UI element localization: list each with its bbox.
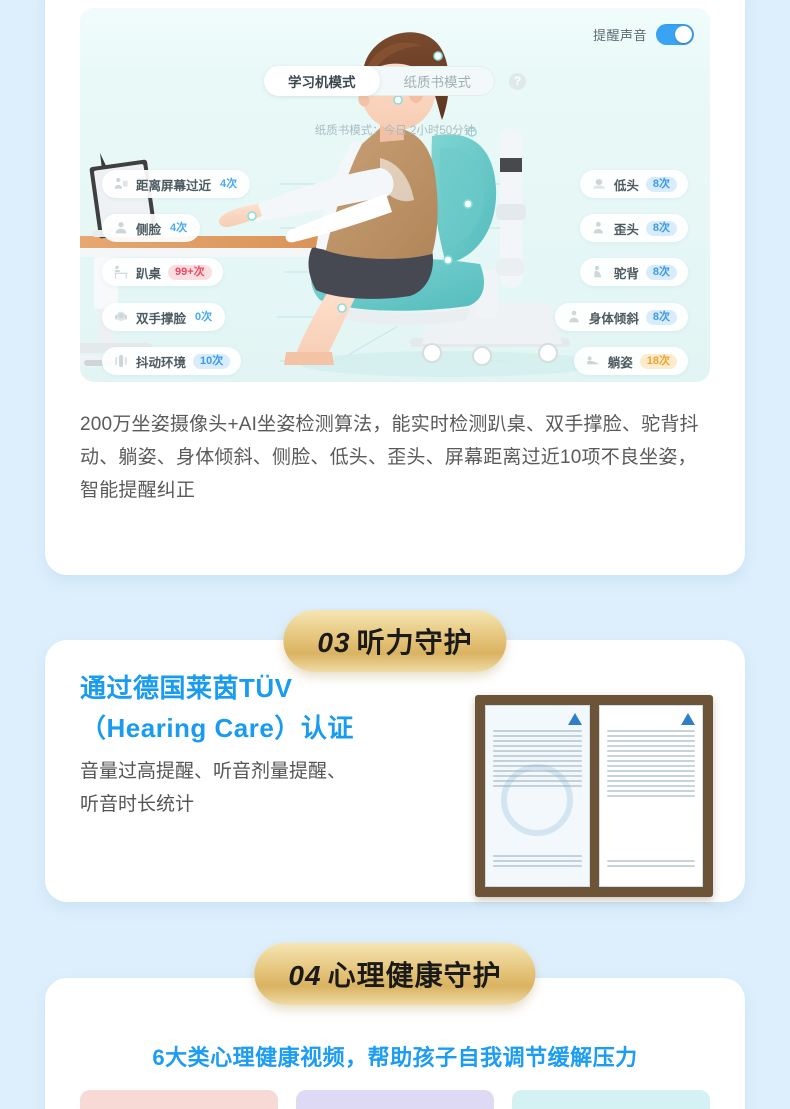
- badge-head-down[interactable]: 低头 8次: [580, 170, 688, 198]
- badge-lying-posture[interactable]: 躺姿 18次: [574, 347, 688, 375]
- desk-lean-icon: [113, 264, 129, 280]
- lying-icon: [585, 353, 601, 369]
- section-03-heading: 03听力守护: [317, 621, 472, 661]
- mode-tab-group[interactable]: 学习机模式 纸质书模式 ?: [264, 66, 526, 96]
- badge-count: 18次: [640, 354, 677, 369]
- posture-illustration-panel: 提醒声音 学习机模式 纸质书模式 ? 纸质书模式：今日 2小时50分钟: [80, 8, 710, 382]
- section-04-chip: 04心理健康守护: [254, 943, 535, 1005]
- video-thumb-3[interactable]: [512, 1090, 710, 1109]
- video-thumb-1[interactable]: [80, 1090, 278, 1109]
- page-root: 提醒声音 学习机模式 纸质书模式 ? 纸质书模式：今日 2小时50分钟: [0, 0, 790, 1109]
- sound-reminder-toggle-row[interactable]: 提醒声音: [593, 24, 694, 45]
- person-screen-icon: [113, 176, 129, 192]
- letter-footer-lines: [607, 860, 696, 870]
- tab-learning-machine-mode[interactable]: 学习机模式: [264, 66, 380, 96]
- badge-label: 歪头: [614, 219, 639, 238]
- video-thumbnail-row: [80, 1090, 710, 1109]
- hunchback-icon: [591, 264, 607, 280]
- badge-count: 0次: [193, 310, 214, 325]
- badge-count: 8次: [646, 310, 677, 325]
- head-down-icon: [591, 176, 607, 192]
- badge-distance-too-close[interactable]: 距离屏幕过近 4次: [102, 170, 250, 198]
- badge-label: 侧脸: [136, 219, 161, 238]
- tuv-logo-icon: [568, 713, 582, 725]
- section-03-number: 03: [317, 627, 350, 658]
- sound-reminder-label: 提醒声音: [593, 25, 647, 44]
- badge-body-tilt[interactable]: 身体倾斜 8次: [555, 303, 688, 331]
- section-03-title: 听力守护: [357, 627, 473, 658]
- badge-count: 4次: [168, 221, 189, 236]
- badge-count: 8次: [646, 221, 677, 236]
- video-thumb-2[interactable]: [296, 1090, 494, 1109]
- mode-segmented-control[interactable]: 学习机模式 纸质书模式: [264, 66, 495, 96]
- badge-shaking-environment[interactable]: 抖动环境 10次: [102, 347, 241, 375]
- hearing-subtext: 音量过高提醒、听音剂量提醒、 听音时长统计: [80, 755, 460, 821]
- hearing-card: 通过德国莱茵TÜV （Hearing Care）认证 音量过高提醒、听音剂量提醒…: [45, 640, 745, 902]
- badge-count: 10次: [193, 354, 230, 369]
- help-icon[interactable]: ?: [509, 73, 526, 90]
- sound-reminder-switch[interactable]: [656, 24, 694, 45]
- badge-label: 抖动环境: [136, 352, 186, 371]
- certificate-footer-lines: [493, 855, 582, 870]
- hearing-heading-line2: （Hearing Care）认证: [80, 708, 460, 748]
- badge-label: 双手撑脸: [136, 308, 186, 327]
- badge-label: 躺姿: [608, 352, 633, 371]
- hearing-heading-line1: 通过德国莱茵TÜV: [80, 668, 460, 708]
- mental-health-headline: 6大类心理健康视频，帮助孩子自我调节缓解压力: [45, 1040, 745, 1072]
- badge-head-tilt[interactable]: 歪头 8次: [580, 214, 688, 242]
- section-04-heading: 04心理健康守护: [288, 954, 501, 994]
- hands-face-icon: [113, 309, 129, 325]
- badge-count: 8次: [646, 265, 677, 280]
- badge-count: 99+次: [168, 265, 212, 280]
- badge-hands-on-face[interactable]: 双手撑脸 0次: [102, 303, 225, 331]
- badge-label: 低头: [614, 175, 639, 194]
- certificate-document-right: [599, 705, 704, 887]
- hearing-subtext-line2: 听音时长统计: [80, 788, 460, 821]
- badge-label: 身体倾斜: [589, 308, 639, 327]
- body-tilt-icon: [566, 309, 582, 325]
- badge-label: 趴桌: [136, 263, 161, 282]
- hearing-heading: 通过德国莱茵TÜV （Hearing Care）认证: [80, 668, 460, 748]
- paper-mode-duration-note: 纸质书模式：今日 2小时50分钟: [80, 122, 710, 138]
- badge-side-face[interactable]: 侧脸 4次: [102, 214, 200, 242]
- badge-count: 4次: [218, 177, 239, 192]
- switch-knob: [675, 26, 692, 43]
- tuv-logo-icon-2: [681, 713, 695, 725]
- badge-hunchback[interactable]: 驼背 8次: [580, 258, 688, 286]
- posture-card: 提醒声音 学习机模式 纸质书模式 ? 纸质书模式：今日 2小时50分钟: [45, 0, 745, 575]
- section-04-title: 心理健康守护: [328, 960, 502, 991]
- badge-count: 8次: [646, 177, 677, 192]
- badge-label: 驼背: [614, 263, 639, 282]
- section-04-number: 04: [288, 960, 321, 991]
- letter-text-lines: [607, 730, 696, 800]
- posture-description-paragraph: 200万坐姿摄像头+AI坐姿检测算法，能实时检测趴桌、双手撑脸、驼背抖动、躺姿、…: [80, 408, 712, 507]
- certificate-document-left: [485, 705, 590, 887]
- section-03-chip: 03听力守护: [283, 610, 506, 672]
- badge-lying-on-desk[interactable]: 趴桌 99+次: [102, 258, 223, 286]
- hearing-subtext-line1: 音量过高提醒、听音剂量提醒、: [80, 755, 460, 788]
- shake-icon: [113, 353, 129, 369]
- badge-label: 距离屏幕过近: [136, 175, 211, 194]
- tuv-certificate-image: [475, 695, 713, 897]
- tab-paper-book-mode[interactable]: 纸质书模式: [380, 66, 496, 96]
- certificate-text-lines: [493, 730, 582, 790]
- face-side-icon: [113, 220, 129, 236]
- head-tilt-icon: [591, 220, 607, 236]
